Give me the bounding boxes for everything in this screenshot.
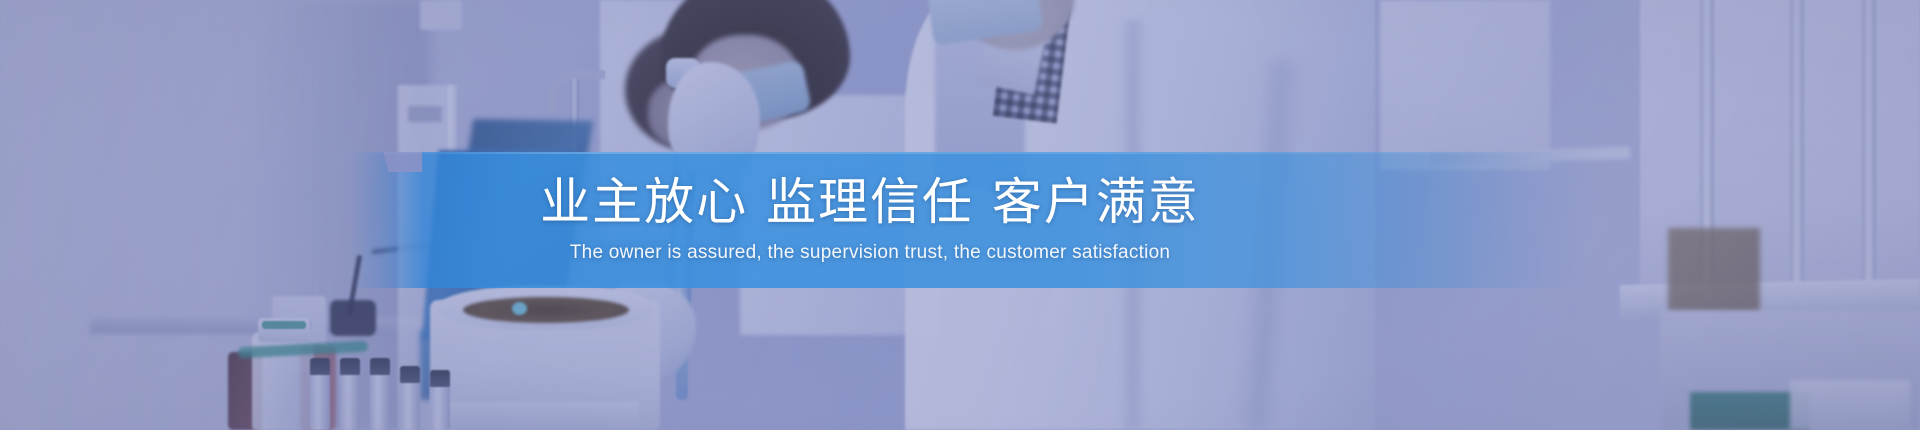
banner-subline: The owner is assured, the supervision tr…: [570, 242, 1170, 264]
banner-headline: 业主放心 监理信任 客户满意: [540, 176, 1200, 229]
caption-block: 业主放心 监理信任 客户满意 The owner is assured, the…: [350, 152, 1590, 288]
hero-banner: 业主放心 监理信任 客户满意 The owner is assured, the…: [0, 0, 1920, 430]
